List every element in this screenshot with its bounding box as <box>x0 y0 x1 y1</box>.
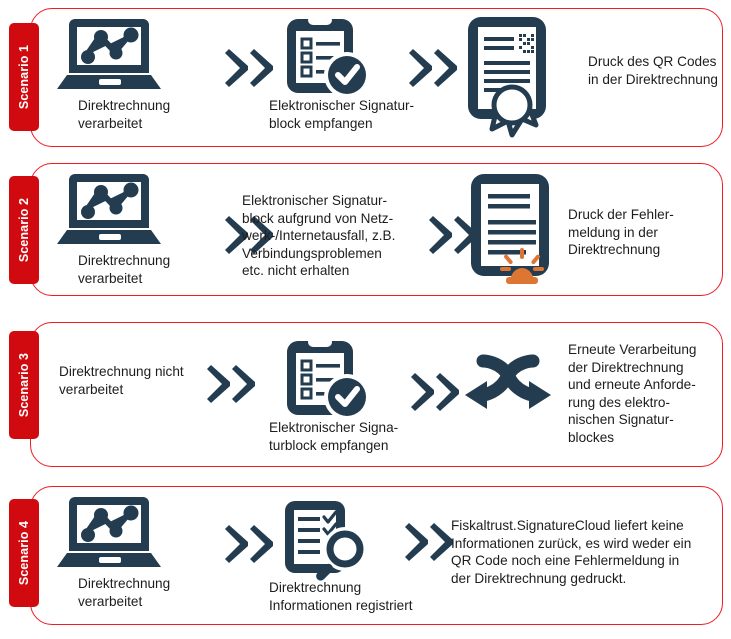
step-caption: Direktrechnung verarbeitet <box>78 97 170 132</box>
laptop-chart-icon <box>59 495 159 573</box>
certificate-qr-seal-icon <box>464 15 558 139</box>
scenario-tab-label: Scenario 1 <box>17 45 31 109</box>
step-caption: Direktrechnung verarbeitet <box>78 252 170 287</box>
laptop-chart-icon <box>59 17 159 95</box>
result-text: Druck des QR Codes in der Direktrechnung <box>588 53 718 88</box>
clipboard-check-icon <box>284 337 370 421</box>
scenario-tab-3: Scenario 3 <box>9 331 39 439</box>
scenario-tab-label: Scenario 4 <box>17 521 31 585</box>
chevron-double-right-icon <box>223 523 277 565</box>
step-caption: Elektronischer Signa- turblock empfangen <box>269 419 398 454</box>
scenario-tab-label: Scenario 3 <box>17 353 31 417</box>
chevron-double-right-icon <box>407 47 461 89</box>
step-caption: Direktrechnung nicht verarbeitet <box>59 363 184 398</box>
document-search-icon <box>281 497 373 581</box>
scenario-tab-label: Scenario 2 <box>17 198 31 262</box>
step-caption: Elektronischer Signatur- block aufgrund … <box>242 192 395 280</box>
shuffle-arrows-icon <box>463 355 553 417</box>
step-caption: Elektronischer Signatur- block empfangen <box>269 97 414 132</box>
scenario-card-2: Scenario 2 Direktrechnung verarbeitet <box>30 163 723 296</box>
step-caption: Direktrechnung Informationen registriert <box>269 579 413 614</box>
scenario-card-1: Scenario 1 Direktrechnung verarbeitet <box>30 8 723 147</box>
result-text: Druck der Fehler- meldung in der Direktr… <box>568 206 674 259</box>
result-text: Erneute Verarbeitung der Direktrechnung … <box>568 341 696 446</box>
document-alarm-icon <box>466 172 562 284</box>
scenario-flow-diagram: Scenario 1 Direktrechnung verarbeitet <box>0 0 731 639</box>
scenario-tab-2: Scenario 2 <box>9 176 39 284</box>
scenario-card-3: Scenario 3 Direktrechnung nicht verarbei… <box>30 322 723 467</box>
clipboard-check-icon <box>284 15 370 99</box>
scenario-tab-4: Scenario 4 <box>9 499 39 607</box>
chevron-double-right-icon <box>403 521 457 563</box>
chevron-double-right-icon <box>205 363 259 405</box>
step-caption: Direktrechnung verarbeitet <box>78 575 170 610</box>
scenario-card-4: Scenario 4 Direktrechnung verarbeitet <box>30 486 723 625</box>
chevron-double-right-icon <box>223 47 277 89</box>
laptop-chart-icon <box>59 172 159 250</box>
scenario-tab-1: Scenario 1 <box>9 23 39 131</box>
chevron-double-right-icon <box>409 371 463 413</box>
result-text: Fiskaltrust.SignatureCloud liefert keine… <box>451 517 691 587</box>
